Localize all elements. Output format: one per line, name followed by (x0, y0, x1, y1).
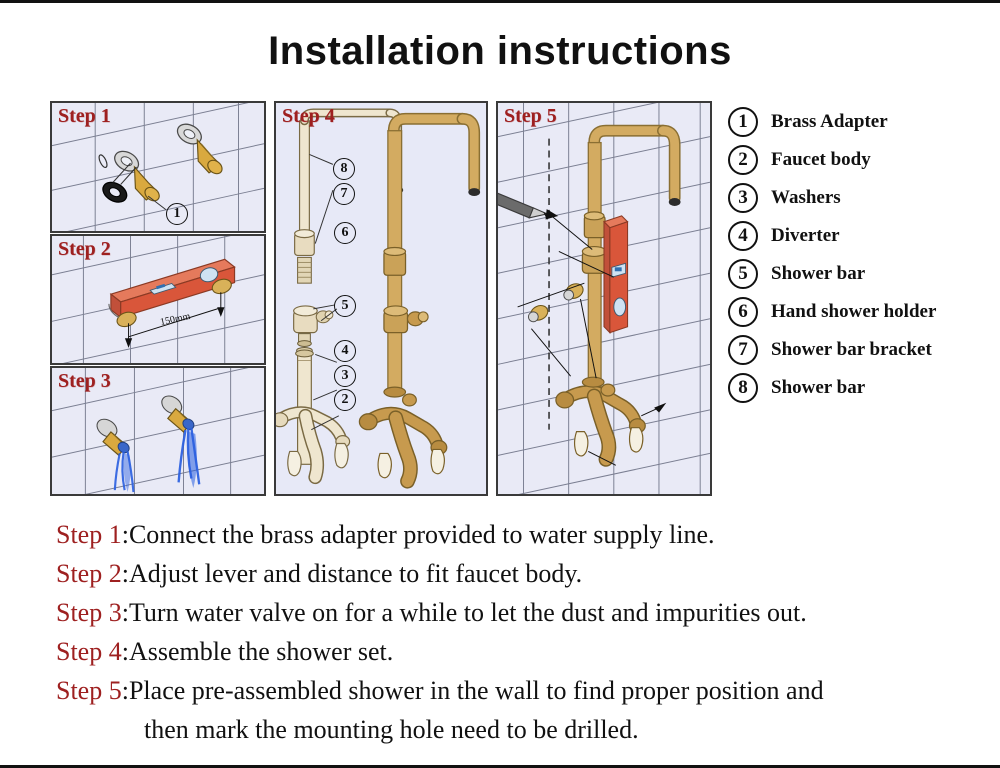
legend-item-3: 3 Washers (728, 179, 994, 217)
step-label-4: Step 4 (282, 105, 335, 128)
callout-7: 7 (333, 183, 355, 205)
legend-number-circle: 2 (728, 145, 758, 175)
callout-8: 8 (333, 158, 355, 180)
instruction-text: Adjust lever and distance to fit faucet … (129, 559, 582, 588)
legend-number: 5 (738, 263, 748, 285)
legend-item-2: 2 Faucet body (728, 141, 994, 179)
legend-number: 2 (738, 149, 748, 171)
instruction-text: Assemble the shower set. (129, 637, 393, 666)
callout-3: 3 (334, 365, 356, 387)
legend-number-circle: 6 (728, 297, 758, 327)
legend-number: 1 (738, 111, 748, 133)
legend-item-6: 6 Hand shower holder (728, 293, 994, 331)
callout-2: 2 (334, 389, 356, 411)
instruction-list: Step 1:Connect the brass adapter provide… (56, 515, 986, 749)
legend-label: Hand shower holder (771, 301, 936, 323)
legend-label: Shower bar (771, 377, 865, 399)
legend-label: Faucet body (771, 149, 871, 171)
instruction-step-prefix: Step 4 (56, 637, 122, 666)
instruction-step-prefix: Step 3 (56, 598, 122, 627)
legend-number: 7 (738, 339, 748, 361)
instruction-text: Turn water valve on for a while to let t… (129, 598, 807, 627)
legend-label: Brass Adapter (771, 111, 888, 133)
callout-number: 2 (342, 392, 349, 408)
callout-4: 4 (334, 340, 356, 362)
instruction-line-1: Step 1:Connect the brass adapter provide… (56, 515, 986, 554)
panel-step-4: 8 7 6 5 4 3 2 Step 4 (274, 101, 488, 496)
legend-number: 3 (738, 187, 748, 209)
panel-step-5: Step 5 (496, 101, 712, 496)
instruction-line-2: Step 2:Adjust lever and distance to fit … (56, 554, 986, 593)
legend-label: Washers (771, 187, 841, 209)
installation-instructions-page: Installation instructions (0, 0, 1000, 768)
callout-6: 6 (334, 222, 356, 244)
instruction-separator: : (122, 637, 129, 666)
legend-label: Shower bar bracket (771, 339, 932, 361)
callout-number: 7 (341, 186, 348, 202)
legend-number-circle: 4 (728, 221, 758, 251)
callout-number: 8 (341, 161, 348, 177)
legend-item-5: 5 Shower bar (728, 255, 994, 293)
panel-step-2: 150mm Step 2 (50, 234, 266, 365)
panel-step-3: Step 3 (50, 366, 266, 496)
legend-number-circle: 7 (728, 335, 758, 365)
legend-number: 8 (738, 377, 748, 399)
callout-number: 4 (342, 343, 349, 359)
legend-number-circle: 1 (728, 107, 758, 137)
instruction-line-3: Step 3:Turn water valve on for a while t… (56, 593, 986, 632)
callout-number: 1 (174, 206, 181, 222)
callout-1: 1 (166, 203, 188, 225)
legend-label: Diverter (771, 225, 840, 247)
callout-number: 6 (342, 225, 349, 241)
instruction-line-5: Step 5:Place pre-assembled shower in the… (56, 671, 986, 710)
callout-5: 5 (334, 295, 356, 317)
legend-number-circle: 3 (728, 183, 758, 213)
instruction-step-prefix: Step 5 (56, 676, 122, 705)
instruction-separator: : (122, 559, 129, 588)
legend-item-8: 8 Shower bar (728, 369, 994, 407)
panel-step-1: 1 Step 1 (50, 101, 266, 233)
step-label-3: Step 3 (58, 370, 111, 393)
instruction-line-5-continuation: then mark the mounting hole need to be d… (56, 710, 986, 749)
legend-number-circle: 5 (728, 259, 758, 289)
legend-number: 4 (738, 225, 748, 247)
instruction-separator: : (122, 520, 129, 549)
page-title: Installation instructions (0, 29, 1000, 74)
callout-number: 5 (342, 298, 349, 314)
step-label-2: Step 2 (58, 238, 111, 261)
legend-item-1: 1 Brass Adapter (728, 103, 994, 141)
instruction-separator: : (122, 676, 129, 705)
legend-number: 6 (738, 301, 748, 323)
instruction-step-prefix: Step 1 (56, 520, 122, 549)
instruction-separator: : (122, 598, 129, 627)
step-label-1: Step 1 (58, 105, 111, 128)
legend-item-4: 4 Diverter (728, 217, 994, 255)
legend-item-7: 7 Shower bar bracket (728, 331, 994, 369)
parts-legend: 1 Brass Adapter 2 Faucet body 3 Washers … (728, 103, 994, 407)
instruction-step-prefix: Step 2 (56, 559, 122, 588)
instruction-text: Connect the brass adapter provided to wa… (129, 520, 715, 549)
step-label-5: Step 5 (504, 105, 557, 128)
callout-number: 3 (342, 368, 349, 384)
step4-artwork (276, 103, 486, 494)
legend-number-circle: 8 (728, 373, 758, 403)
legend-label: Shower bar (771, 263, 865, 285)
step5-artwork (498, 103, 710, 494)
instruction-text: Place pre-assembled shower in the wall t… (129, 676, 824, 705)
instruction-line-4: Step 4:Assemble the shower set. (56, 632, 986, 671)
